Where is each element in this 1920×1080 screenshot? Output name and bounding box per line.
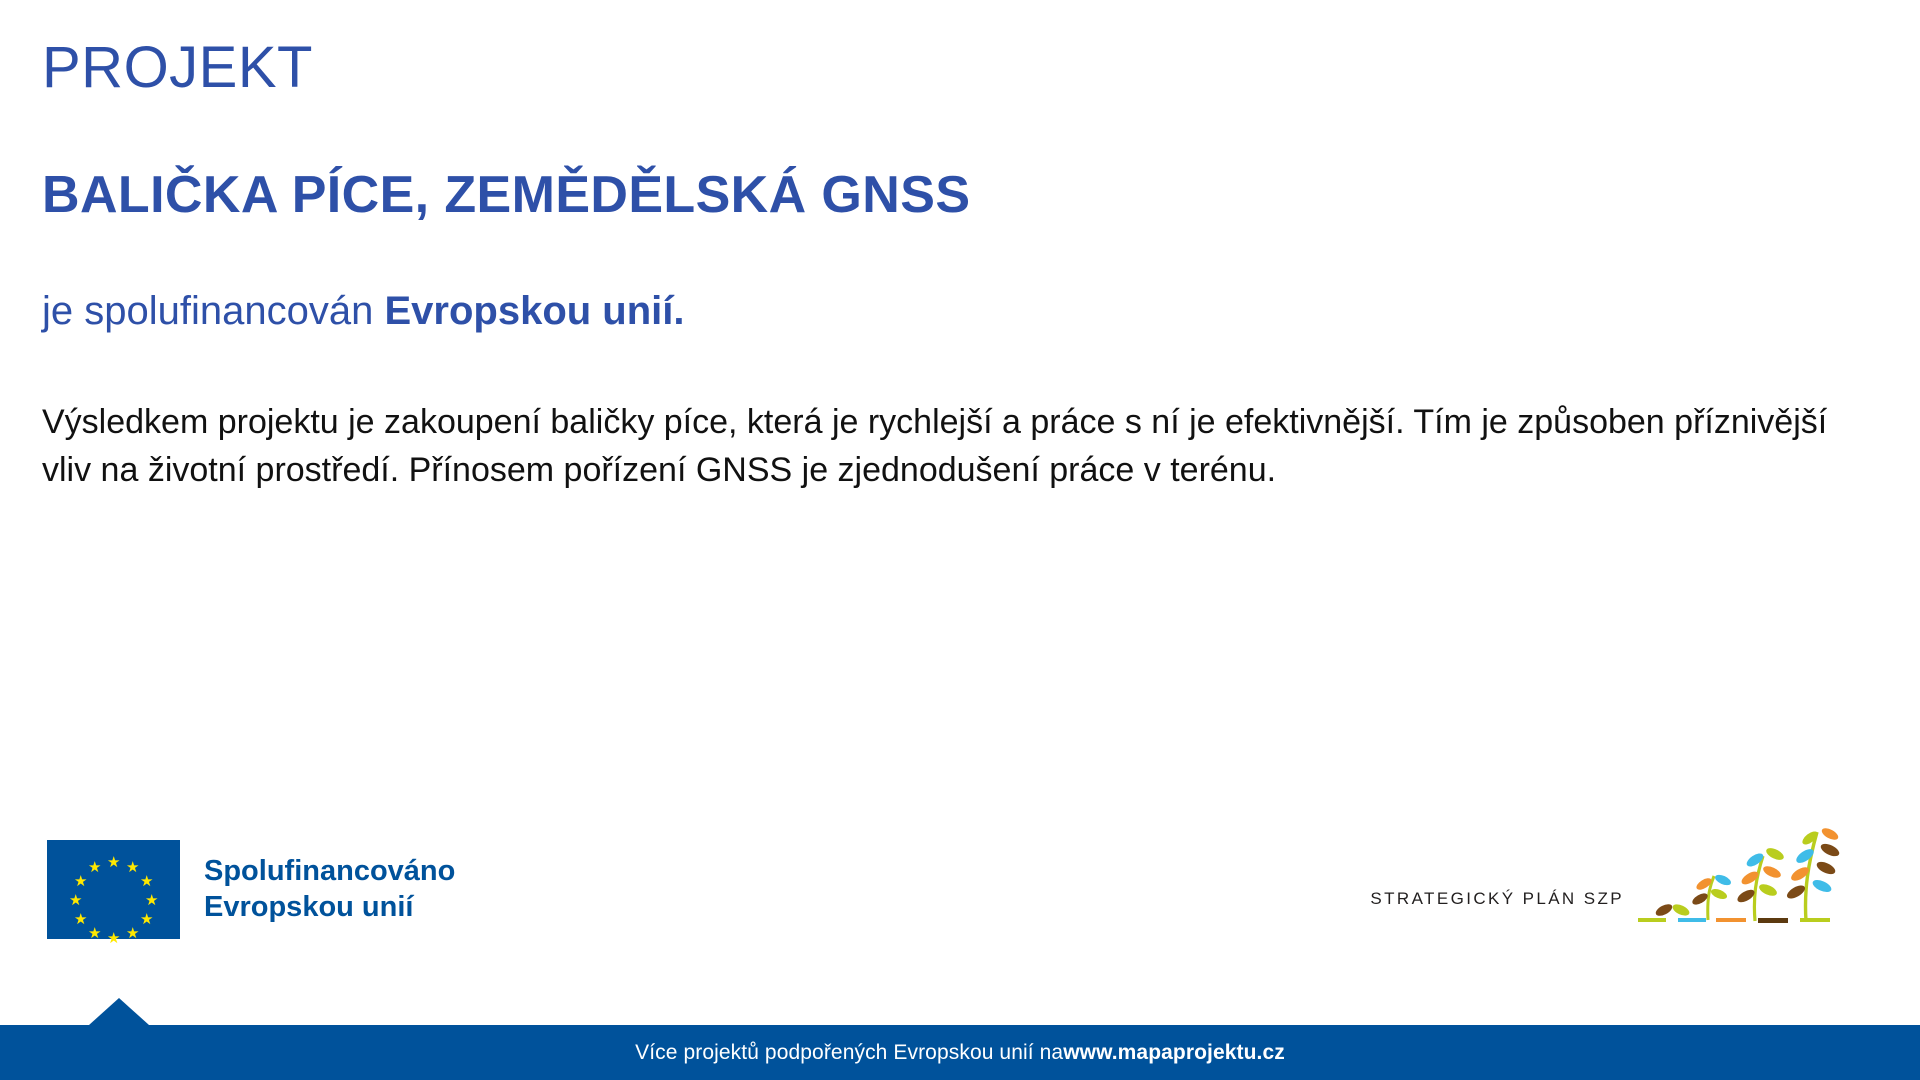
eu-logo-caption: Spolufinancováno Evropskou unií: [204, 854, 455, 925]
footer-text: Více projektů podpořených Evropskou unií…: [0, 1025, 1920, 1080]
page-eyebrow: PROJEKT: [42, 38, 313, 99]
eu-caption-line-1: Spolufinancováno: [204, 854, 455, 889]
subtitle-bold-text: Evropskou unií.: [384, 289, 684, 333]
szp-growing-plants-icon: [1638, 820, 1868, 935]
eu-star-icon: ★: [145, 894, 158, 907]
eu-star-icon: ★: [88, 861, 101, 874]
slide-canvas: PROJEKT BALIČKA PÍCE, ZEMĚDĚLSKÁ GNSS je…: [0, 0, 1920, 1080]
page-body-paragraph: Výsledkem projektu je zakoupení baličky …: [42, 398, 1862, 495]
strategicky-plan-szp-logo: STRATEGICKÝ PLÁN SZP: [1370, 820, 1868, 935]
eu-star-icon: ★: [126, 861, 139, 874]
eu-star-icon: ★: [74, 913, 87, 926]
szp-logo-caption: STRATEGICKÝ PLÁN SZP: [1370, 889, 1624, 935]
eu-star-icon: ★: [88, 927, 101, 940]
subtitle-normal-text: je spolufinancován: [42, 289, 384, 333]
eu-star-icon: ★: [140, 875, 153, 888]
footer-peak-marker: [89, 998, 149, 1025]
page-subtitle: je spolufinancován Evropskou unií.: [42, 288, 685, 334]
eu-caption-line-2: Evropskou unií: [204, 890, 455, 925]
eu-star-icon: ★: [74, 875, 87, 888]
eu-star-icon: ★: [107, 932, 120, 945]
eu-star-icon: ★: [126, 927, 139, 940]
eu-cofunded-logo: ★ ★ ★ ★ ★ ★ ★ ★ ★ ★ ★ ★ Spolufinancováno…: [47, 840, 455, 939]
eu-star-icon: ★: [107, 856, 120, 869]
page-title: BALIČKA PÍCE, ZEMĚDĚLSKÁ GNSS: [42, 168, 970, 223]
footer-website-link[interactable]: www.mapaprojektu.cz: [1063, 1041, 1285, 1065]
footer-normal-text: Více projektů podpořených Evropskou unií…: [635, 1041, 1063, 1065]
eu-flag-icon: ★ ★ ★ ★ ★ ★ ★ ★ ★ ★ ★ ★: [47, 840, 180, 939]
eu-star-icon: ★: [69, 894, 82, 907]
eu-star-icon: ★: [140, 913, 153, 926]
